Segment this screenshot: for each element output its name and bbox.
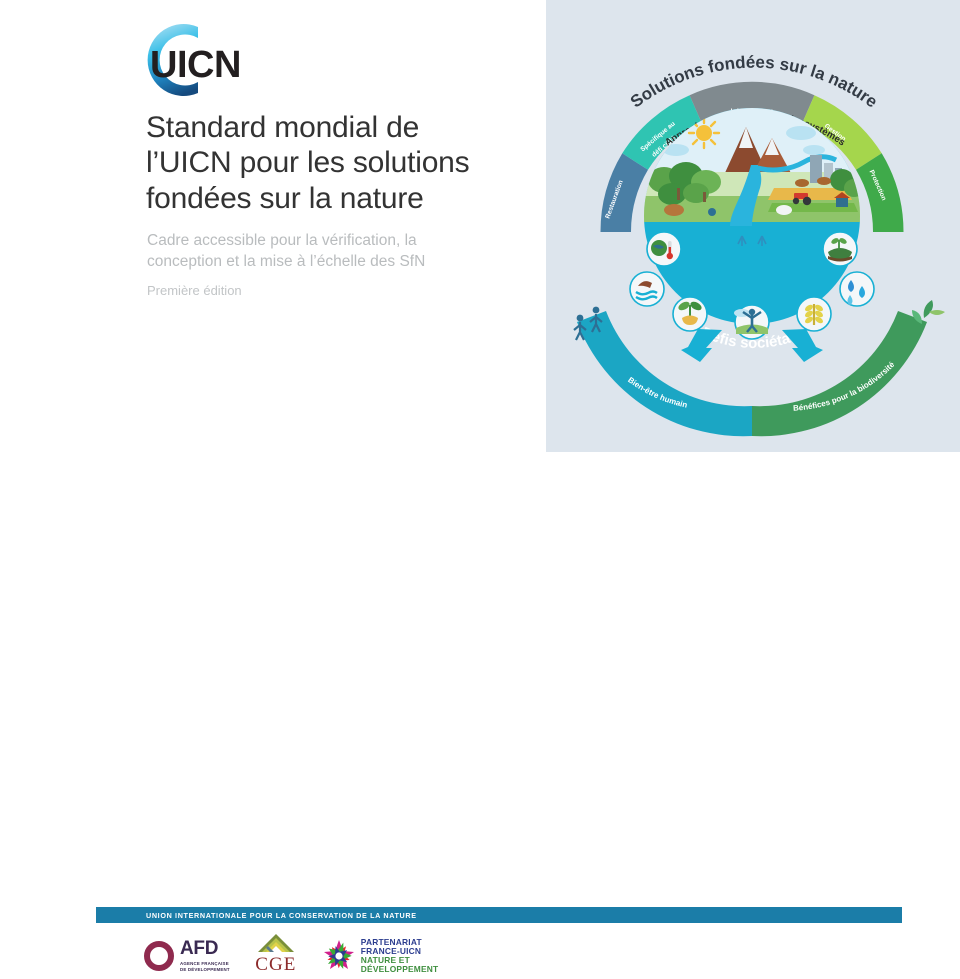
partenariat-line-1: PARTENARIAT <box>361 938 439 947</box>
partenariat-star-icon <box>322 939 356 973</box>
edition-label: Première édition <box>147 283 242 298</box>
page-title: Standard mondial de l’UICN pour les solu… <box>146 110 536 216</box>
cyclist-icon <box>708 208 716 216</box>
cover-page: UICN Standard mondial de l’UICN pour les… <box>0 0 960 539</box>
page-title-line-2: l’UICN pour les solutions <box>146 145 536 180</box>
uicn-logo: UICN <box>126 14 246 106</box>
page-subtitle: Cadre accessible pour la vérification, l… <box>147 231 507 273</box>
partner-logos: AFD AGENCE FRANÇAISE DE DÉVELOPPEMENT CG… <box>144 933 438 979</box>
uicn-logo-text: UICN <box>150 44 241 87</box>
footer-banner: UNION INTERNATIONALE POUR LA CONSERVATIO… <box>96 907 902 923</box>
afd-logo-tagline: AGENCE FRANÇAISE DE DÉVELOPPEMENT <box>180 961 230 973</box>
food-security-icon[interactable] <box>673 297 707 331</box>
cover-left-panel: UICN Standard mondial de l’UICN pour les… <box>0 0 546 452</box>
partenariat-line-4: DÉVELOPPEMENT <box>361 965 439 974</box>
page-title-line-3: fondées sur la nature <box>146 181 536 216</box>
afd-ring-icon <box>144 941 174 971</box>
afd-logo-name: AFD <box>180 939 230 958</box>
economic-development-icon[interactable] <box>797 297 831 331</box>
partenariat-logo[interactable]: PARTENARIAT FRANCE-UICN NATURE ET DÉVELO… <box>322 933 439 979</box>
cover-right-panel: Restauration Spécifique au défi ciblé In… <box>546 0 960 452</box>
water-security-icon[interactable] <box>840 272 874 306</box>
footer-banner-text: UNION INTERNATIONALE POUR LA CONSERVATIO… <box>96 907 902 923</box>
sheep-icon <box>776 205 792 215</box>
disaster-risk-icon[interactable] <box>630 272 664 306</box>
cover-footer: UNION INTERNATIONALE POUR LA CONSERVATIO… <box>0 452 960 539</box>
page-subtitle-line-2: conception et la mise à l’échelle des Sf… <box>147 252 507 273</box>
nbs-framework-diagram: Restauration Spécifique au défi ciblé In… <box>546 0 960 452</box>
page-subtitle-line-1: Cadre accessible pour la vérification, l… <box>147 231 507 252</box>
page-title-line-1: Standard mondial de <box>146 110 536 145</box>
outcome-arc-biodiversity <box>752 311 927 436</box>
afd-logo[interactable]: AFD AGENCE FRANÇAISE DE DÉVELOPPEMENT <box>144 933 230 979</box>
cge-logo[interactable]: CGE <box>254 933 298 979</box>
climate-change-icon[interactable] <box>647 232 681 266</box>
leaf-icon <box>912 300 945 324</box>
environmental-degradation-icon[interactable] <box>823 232 857 266</box>
afd-tagline-line-2: DE DÉVELOPPEMENT <box>180 967 230 973</box>
afd-tagline-line-1: AGENCE FRANÇAISE <box>180 961 230 967</box>
partenariat-line-2: FRANCE-UICN <box>361 947 439 956</box>
cge-logo-name: CGE <box>255 954 296 976</box>
human-health-icon[interactable] <box>734 305 769 339</box>
wildlife-icon <box>664 204 684 216</box>
outcome-arc-wellbeing <box>577 311 752 436</box>
partenariat-line-3: NATURE ET <box>361 956 439 965</box>
cge-roof-icon <box>254 933 298 953</box>
